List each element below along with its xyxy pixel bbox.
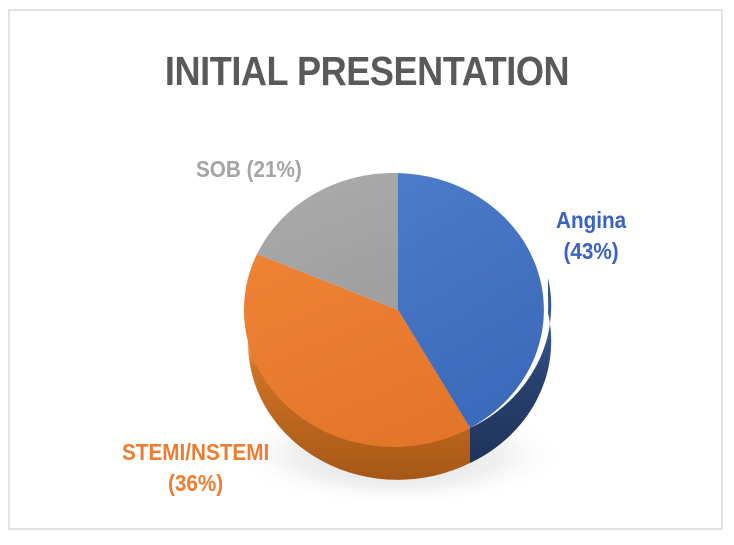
pie-chart-graphic xyxy=(0,0,734,540)
data-label-stemi: STEMI/NSTEMI (36%) xyxy=(122,437,269,499)
data-label-sob: SOB (21%) xyxy=(196,154,302,185)
data-label-sob-text: SOB (21%) xyxy=(196,154,302,185)
slide-canvas: INITIAL PRESENTATION xyxy=(0,0,734,540)
pie-chart-svg xyxy=(0,0,734,540)
data-label-angina-name: Angina xyxy=(556,205,626,236)
data-label-stemi-value: (36%) xyxy=(122,468,269,499)
data-label-stemi-name: STEMI/NSTEMI xyxy=(122,437,269,468)
data-label-angina: Angina (43%) xyxy=(556,205,626,267)
data-label-angina-value: (43%) xyxy=(556,236,626,267)
